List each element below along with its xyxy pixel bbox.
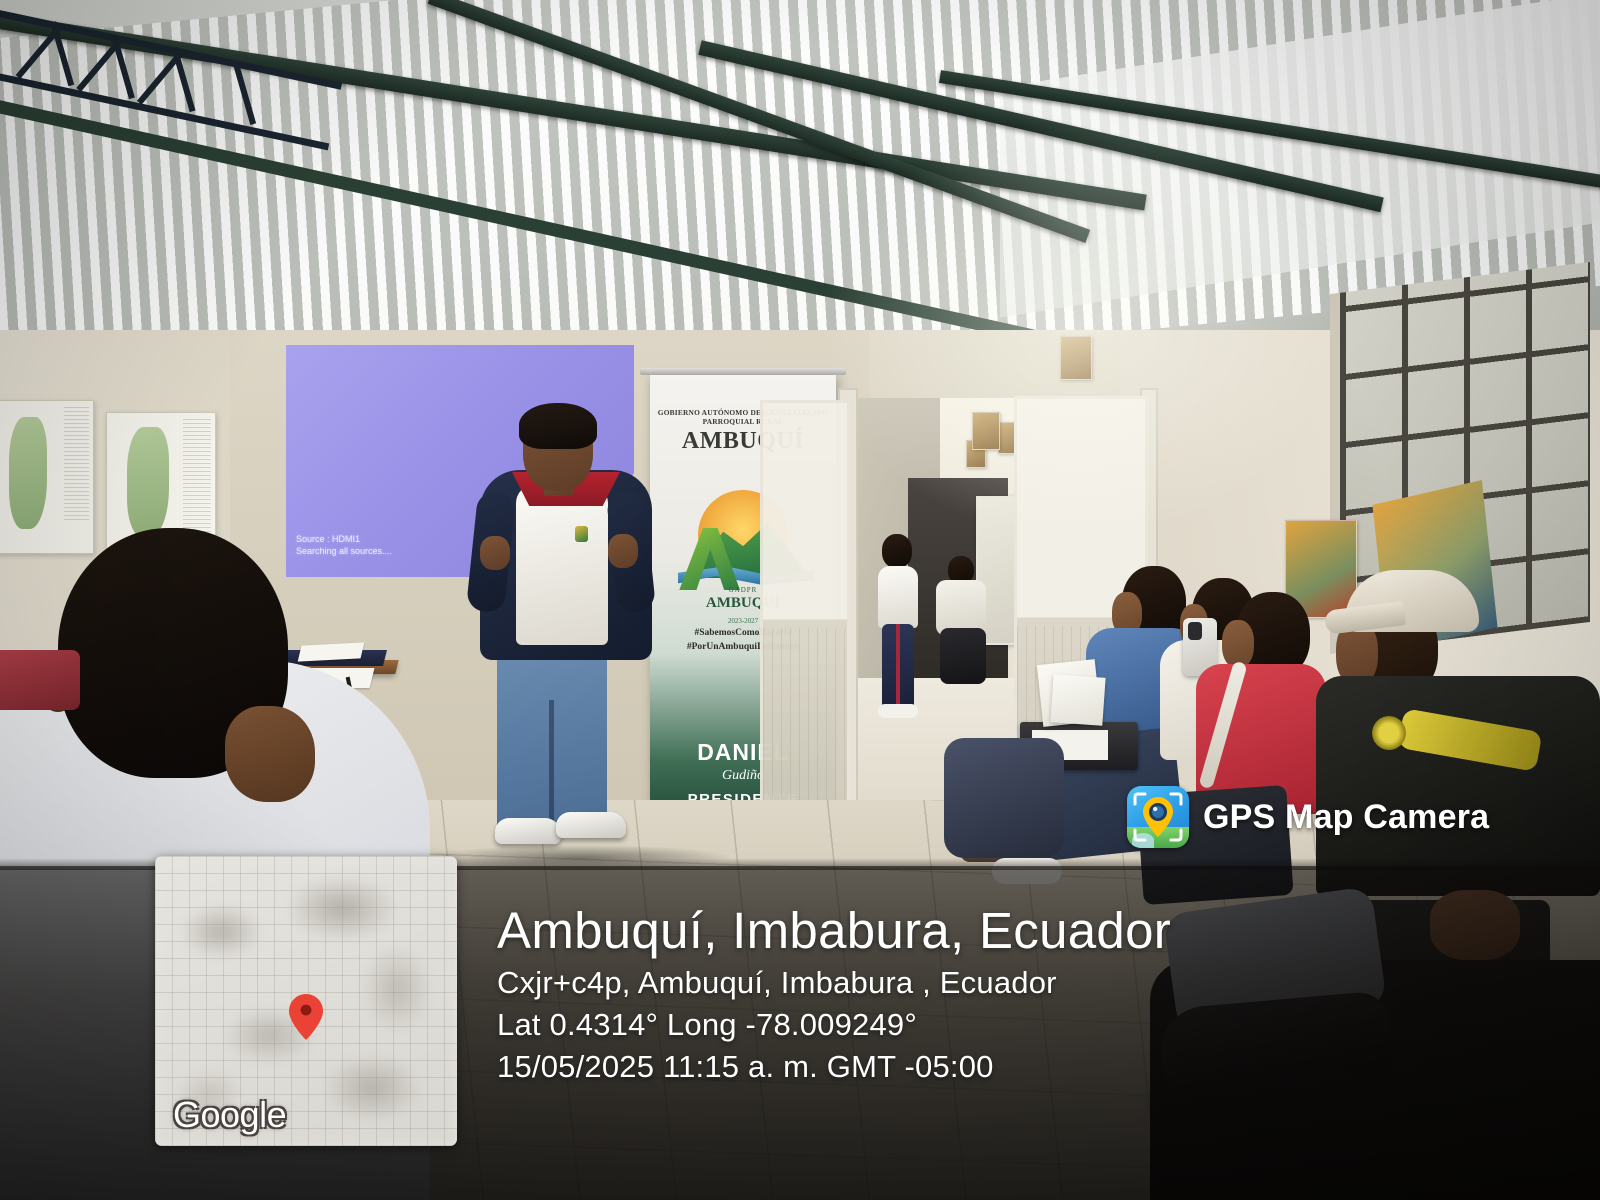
- banner-top-rail: [640, 368, 846, 375]
- door-panel: [760, 400, 850, 822]
- gps-timestamp: 15/05/2025 11:15 a. m. GMT -05:00: [497, 1046, 1587, 1088]
- presenter-shoe-right: [556, 812, 626, 838]
- icon-focus-brackets: [1127, 786, 1189, 848]
- jacket-logo: [1372, 716, 1406, 750]
- presenter-hand-right: [608, 534, 638, 568]
- office-person-shoes: [878, 704, 918, 718]
- map-pin-icon: [289, 994, 323, 1040]
- audience-person-legs: [944, 738, 1064, 858]
- smartphone-camera: [1188, 622, 1202, 640]
- wall-map-poster: [0, 400, 94, 554]
- presenter-jeans-seam: [549, 700, 554, 830]
- gps-place-title: Ambuquí, Imbabura, Ecuador: [497, 900, 1587, 962]
- gps-map-camera-badge: GPS Map Camera: [1127, 786, 1489, 848]
- framed-artwork: [972, 412, 1000, 450]
- map-thumbnail[interactable]: Google: [155, 856, 457, 1146]
- gps-info-block: Ambuquí, Imbabura, Ecuador Cxjr+c4p, Amb…: [497, 900, 1587, 1088]
- office-person-head: [882, 534, 912, 568]
- gps-map-camera-icon: [1127, 786, 1189, 848]
- presenter-hand-left: [480, 536, 510, 570]
- office-person-torso: [878, 566, 918, 628]
- door-panel-grooves: [763, 628, 847, 819]
- handout-paper: [1050, 674, 1105, 726]
- presenter-polo-shirt: [516, 485, 608, 645]
- presenter-shirt-logo: [575, 526, 588, 542]
- foreground-attendee-hand: [225, 706, 315, 802]
- projector-searching-line: Searching all sources....: [296, 545, 392, 557]
- office-chair: [940, 628, 986, 684]
- gps-map-camera-photo: Source : HDMI1 Searching all sources....…: [0, 0, 1600, 1200]
- projector-source-line: Source : HDMI1: [296, 533, 392, 545]
- gps-map-camera-label: GPS Map Camera: [1203, 798, 1489, 837]
- presenter-shoe-left: [495, 818, 561, 844]
- google-watermark: Google: [173, 1094, 286, 1136]
- audience-person-face: [1222, 620, 1254, 668]
- gps-coordinates: Lat 0.4314° Long -78.009249°: [497, 1004, 1587, 1046]
- metal-roof: [0, 0, 1600, 330]
- projector-status-text: Source : HDMI1 Searching all sources....: [296, 533, 392, 557]
- presenter-hair: [519, 403, 597, 449]
- framed-artwork: [1060, 336, 1092, 380]
- red-chair-back: [0, 650, 80, 710]
- office-person-pant-stripe: [896, 624, 900, 710]
- gps-address: Cxjr+c4p, Ambuquí, Imbabura , Ecuador: [497, 962, 1587, 1004]
